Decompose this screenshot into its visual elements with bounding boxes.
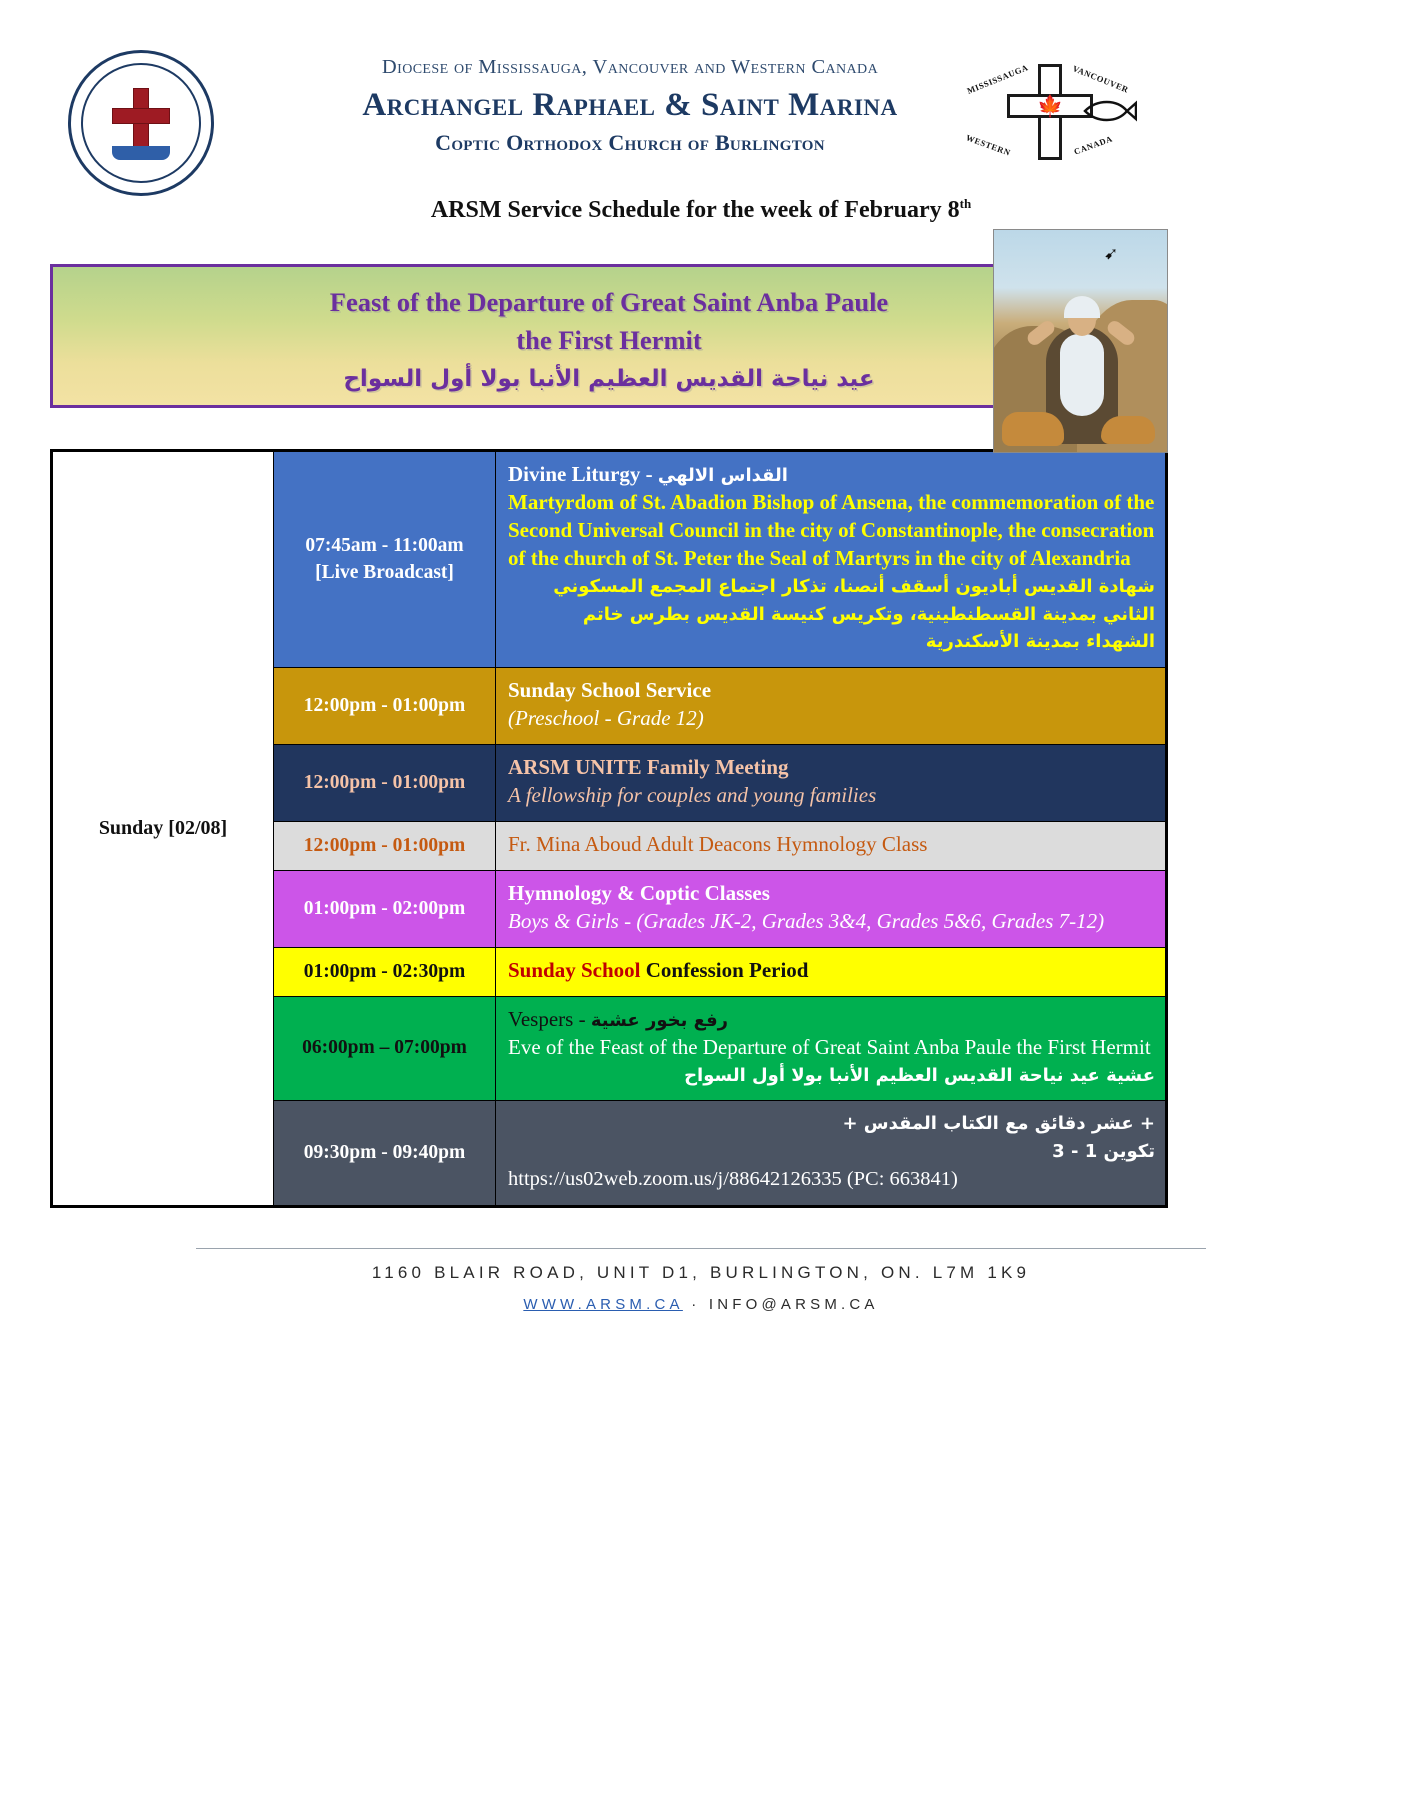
arsm-unite-title: ARSM UNITE Family Meeting — [508, 754, 1155, 782]
time-cell-deacons-class: 12:00pm - 01:00pm — [274, 822, 496, 871]
desc-cell-hymnology-classes: Hymnology & Coptic Classes Boys & Girls … — [496, 870, 1167, 947]
liturgy-title-ar: القداس الالهي — [658, 465, 788, 486]
desc-cell-arsm-unite: ARSM UNITE Family Meeting A fellowship f… — [496, 745, 1167, 822]
desc-cell-deacons-class: Fr. Mina Aboud Adult Deacons Hymnology C… — [496, 822, 1167, 871]
diocese-line: Diocese of Mississauga, Vancouver and We… — [250, 56, 1010, 79]
service-schedule-table: Sunday [02/08] 07:45am - 11:00am [Live B… — [50, 449, 1168, 1208]
schedule-title-text: ARSM Service Schedule for the week of Fe… — [431, 197, 960, 223]
arsm-unite-subtitle: A fellowship for couples and young famil… — [508, 782, 1155, 810]
hymnology-subtitle: Boys & Girls - (Grades JK-2, Grades 3&4,… — [508, 908, 1155, 936]
feast-banner-area: Feast of the Departure of Great Saint An… — [0, 224, 1402, 449]
email-text: INFO@ARSM.CA — [709, 1296, 879, 1313]
church-crest-logo — [68, 50, 214, 196]
crest-inner-ring — [81, 63, 201, 183]
confession-title-black: Confession Period — [646, 958, 809, 982]
vespers-title-ar: رفع بخور عشية — [591, 1010, 728, 1031]
schedule-title-ordinal: th — [960, 196, 972, 211]
website-link[interactable]: WWW.ARSM.CA — [523, 1296, 683, 1313]
desc-cell-divine-liturgy: Divine Liturgy - القداس الالهي Martyrdom… — [496, 451, 1167, 668]
desc-cell-bible-study: + عشر دقائق مع الكتاب المقدس + تكوين 1 -… — [496, 1101, 1167, 1206]
bible-study-arabic-line-1: + عشر دقائق مع الكتاب المقدس + — [508, 1110, 1155, 1138]
time-cell-confession: 01:00pm - 02:30pm — [274, 947, 496, 996]
hymnology-title: Hymnology & Coptic Classes — [508, 880, 1155, 908]
church-subtitle: Coptic Orthodox Church of Burlington — [250, 130, 1010, 156]
time-cell-vespers: 06:00pm – 07:00pm — [274, 996, 496, 1101]
header-titles: Diocese of Mississauga, Vancouver and We… — [250, 56, 1010, 156]
vespers-title-line: Vespers - رفع بخور عشية — [508, 1006, 1155, 1034]
footer-contact: WWW.ARSM.CA · INFO@ARSM.CA — [0, 1296, 1402, 1313]
saint-anba-paule-image: ➹ — [993, 229, 1168, 453]
confession-title-red: Sunday School — [508, 958, 640, 982]
time-cell-divine-liturgy: 07:45am - 11:00am [Live Broadcast] — [274, 451, 496, 668]
logo-word-western: WESTERN — [965, 132, 1012, 157]
liturgy-body-ar: شهادة القديس أباديون أسقف أنصنا، تذكار ا… — [508, 573, 1155, 657]
footer-address: 1160 BLAIR ROAD, UNIT D1, BURLINGTON, ON… — [0, 1263, 1402, 1283]
liturgy-title-en: Divine Liturgy - — [508, 462, 653, 486]
vespers-body-en: Eve of the Feast of the Departure of Gre… — [508, 1034, 1155, 1062]
day-cell-sunday: Sunday [02/08] — [52, 451, 274, 1207]
schedule-table-wrap: Sunday [02/08] 07:45am - 11:00am [Live B… — [0, 449, 1402, 1208]
page-footer: 1160 BLAIR ROAD, UNIT D1, BURLINGTON, ON… — [0, 1248, 1402, 1313]
sunday-school-title: Sunday School Service — [508, 677, 1155, 705]
fish-icon — [1083, 98, 1137, 124]
raven-icon: ➹ — [1104, 246, 1140, 262]
table-row: Sunday [02/08] 07:45am - 11:00am [Live B… — [52, 451, 1167, 668]
church-name: Archangel Raphael & Saint Marina — [250, 87, 1010, 124]
schedule-title: ARSM Service Schedule for the week of Fe… — [0, 196, 1402, 224]
time-range: 07:45am - 11:00am — [280, 533, 489, 559]
desc-cell-vespers: Vespers - رفع بخور عشية Eve of the Feast… — [496, 996, 1167, 1101]
vespers-title-en: Vespers - — [508, 1007, 586, 1031]
footer-separator: · — [691, 1296, 700, 1313]
desc-cell-confession: Sunday School Confession Period — [496, 947, 1167, 996]
time-note: [Live Broadcast] — [280, 560, 489, 586]
vespers-body-ar: عشية عيد نياحة القديس العظيم الأنبا بولا… — [508, 1062, 1155, 1090]
liturgy-body-en: Martyrdom of St. Abadion Bishop of Ansen… — [508, 489, 1155, 573]
coptic-cross-icon — [106, 86, 176, 160]
page-header: Diocese of Mississauga, Vancouver and We… — [0, 0, 1402, 190]
time-cell-arsm-unite: 12:00pm - 01:00pm — [274, 745, 496, 822]
bible-study-arabic-line-2: تكوين 1 - 3 — [508, 1138, 1155, 1166]
time-cell-sunday-school-service: 12:00pm - 01:00pm — [274, 668, 496, 745]
diocese-logo: 🍁 MISSISSAUGA VANCOUVER WESTERN CANADA — [963, 62, 1138, 162]
time-cell-bible-study: 09:30pm - 09:40pm — [274, 1101, 496, 1206]
maple-leaf-icon: 🍁 — [1037, 96, 1063, 117]
zoom-meeting-link[interactable]: https://us02web.zoom.us/j/88642126335 (P… — [508, 1166, 1155, 1193]
footer-divider — [196, 1248, 1206, 1249]
sunday-school-subtitle: (Preschool - Grade 12) — [508, 705, 1155, 733]
liturgy-title-line: Divine Liturgy - القداس الالهي — [508, 461, 1155, 489]
time-cell-hymnology-classes: 01:00pm - 02:00pm — [274, 870, 496, 947]
desc-cell-sunday-school-service: Sunday School Service (Preschool - Grade… — [496, 668, 1167, 745]
